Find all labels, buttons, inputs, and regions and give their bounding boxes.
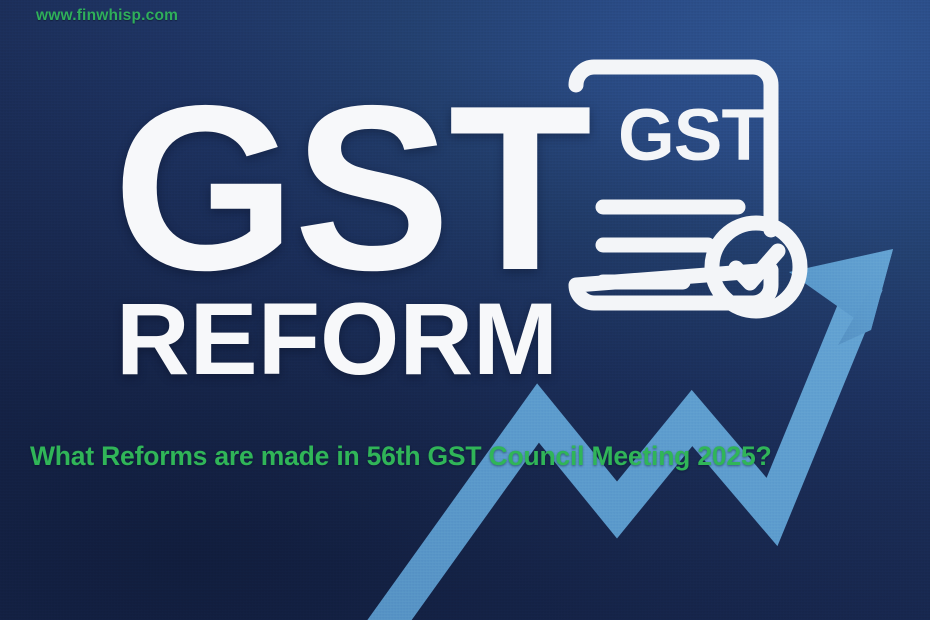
page-title-reform: REFORM xyxy=(116,288,558,390)
poster-canvas: www.finwhisp.com GST REFORM What Reforms… xyxy=(0,0,930,620)
document-gst-label: GST xyxy=(618,95,765,176)
page-title-gst: GST xyxy=(113,70,590,305)
subtitle-question: What Reforms are made in 56th GST Counci… xyxy=(30,440,910,472)
gst-document-icon: GST xyxy=(548,55,814,321)
site-watermark: www.finwhisp.com xyxy=(36,7,178,25)
